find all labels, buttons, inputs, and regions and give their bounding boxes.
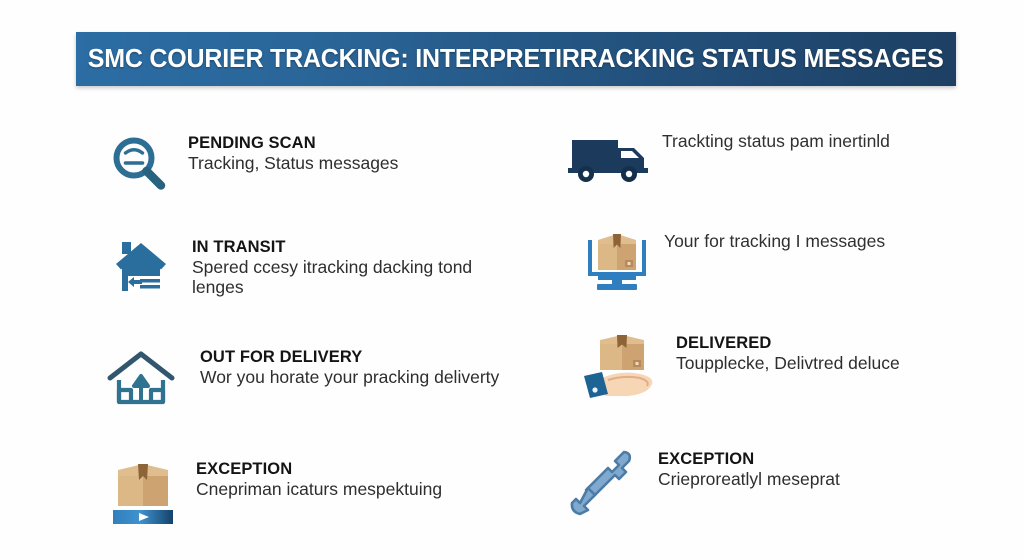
page-title: SMC COURIER TRACKING: INTERPRETIRRACKING…	[88, 45, 944, 74]
delivery-truck-icon	[566, 130, 650, 188]
status-text-block: PENDING SCAN Tracking, Status messages	[188, 132, 398, 174]
status-description: Toupplecke, Delivtred deluce	[676, 354, 900, 374]
package-box-bar-icon	[108, 458, 178, 528]
title-banner: SMC COURIER TRACKING: INTERPRETIRRACKING…	[76, 32, 956, 86]
house-outline-icon	[104, 346, 178, 410]
status-text-block: EXCEPTION Crieproreatlyl meseprat	[658, 448, 840, 490]
status-heading: OUT FOR DELIVERY	[200, 348, 499, 367]
status-heading: EXCEPTION	[196, 460, 442, 479]
wrench-icon	[562, 448, 640, 518]
magnifier-icon	[108, 132, 170, 194]
status-text-block: Your for tracking I messages	[664, 230, 885, 252]
status-description: Tracking, Status messages	[188, 154, 398, 174]
status-text-block: IN TRANSIT Spered ccesy itracking dackin…	[192, 236, 522, 297]
status-heading: IN TRANSIT	[192, 238, 522, 257]
status-description: Crieproreatlyl meseprat	[658, 470, 840, 490]
package-in-hand-icon	[578, 332, 662, 402]
status-heading: PENDING SCAN	[188, 134, 398, 153]
infographic-canvas: SMC COURIER TRACKING: INTERPRETIRRACKING…	[0, 0, 1024, 559]
status-item-delivered: DELIVERED Toupplecke, Delivtred deluce	[578, 332, 900, 402]
status-item-in-transit: IN TRANSIT Spered ccesy itracking dackin…	[108, 236, 522, 300]
status-item-exception-right: EXCEPTION Crieproreatlyl meseprat	[562, 448, 840, 518]
status-description: Wor you horate your pracking deliverty	[200, 368, 499, 388]
status-text-block: OUT FOR DELIVERY Wor you horate your pra…	[200, 346, 499, 388]
status-heading: EXCEPTION	[658, 450, 840, 469]
status-text-block: Trackting status pam inertinld	[662, 130, 890, 152]
status-item-truck: Trackting status pam inertinld	[566, 130, 890, 188]
status-item-pending-scan: PENDING SCAN Tracking, Status messages	[108, 132, 398, 194]
status-text-block: DELIVERED Toupplecke, Delivtred deluce	[676, 332, 900, 374]
status-description: Cnepriman icaturs mespektuing	[196, 480, 442, 500]
status-item-out-for-delivery: OUT FOR DELIVERY Wor you horate your pra…	[104, 346, 499, 410]
status-text-block: EXCEPTION Cnepriman icaturs mespektuing	[196, 458, 442, 500]
status-description: Your for tracking I messages	[664, 232, 885, 252]
status-item-exception-left: EXCEPTION Cnepriman icaturs mespektuing	[108, 458, 442, 528]
house-arrow-filled-icon	[108, 236, 174, 300]
package-on-monitor-icon	[584, 230, 650, 294]
status-description: Trackting status pam inertinld	[662, 132, 890, 152]
status-description: Spered ccesy itracking dacking tond leng…	[192, 258, 522, 297]
status-heading: DELIVERED	[676, 334, 900, 353]
status-item-package-on-monitor: Your for tracking I messages	[584, 230, 885, 294]
